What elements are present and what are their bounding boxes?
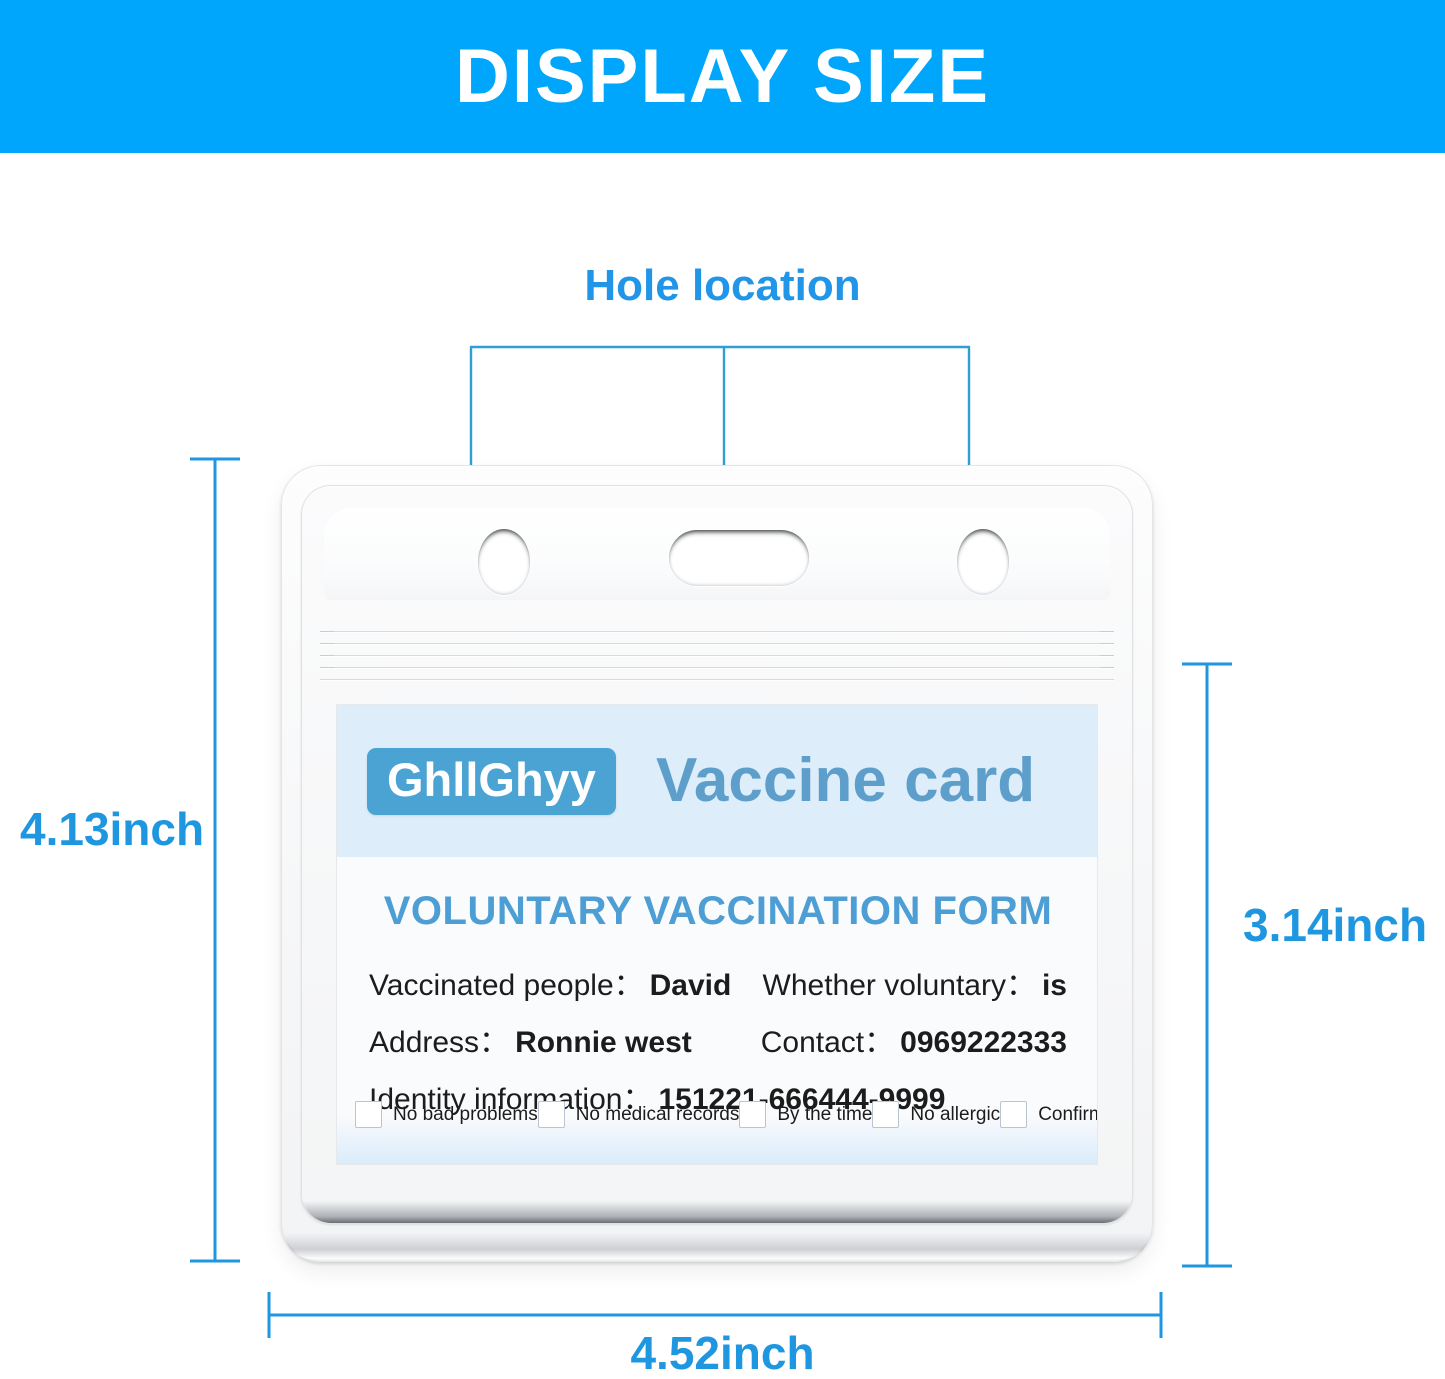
checkbox-label: Confirm the vaccination: [1038, 1105, 1098, 1124]
hole-left-icon: [478, 529, 530, 595]
checkbox-icon[interactable]: [355, 1101, 382, 1128]
field-contact: Contact：0969222333: [761, 1026, 1067, 1059]
dimension-line-overall-height: [186, 455, 244, 1265]
checkbox-label: No allergic: [910, 1105, 1000, 1124]
checkbox-icon[interactable]: [872, 1101, 899, 1128]
checkbox-label: No bad problems: [393, 1105, 538, 1124]
form-title: VOLUNTARY VACCINATION FORM: [369, 891, 1067, 931]
brand-logo: GhllGhyy: [367, 748, 616, 815]
dimension-line-card-height: [1178, 660, 1236, 1270]
field-value: is: [1042, 969, 1067, 1002]
hole-location-leader-lines: [440, 330, 1000, 475]
checkbox-icon[interactable]: [538, 1101, 565, 1128]
vaccine-card: GhllGhyy Vaccine card VOLUNTARY VACCINAT…: [336, 704, 1098, 1165]
page-title: DISPLAY SIZE: [455, 39, 990, 115]
overall-width-label: 4.52inch: [0, 1330, 1445, 1376]
overall-height-label: 4.13inch: [20, 806, 204, 852]
checkbox-label: By the time: [777, 1105, 872, 1124]
form-row: Vaccinated people：David Whether voluntar…: [369, 969, 1067, 1002]
checkbox-icon[interactable]: [1000, 1101, 1027, 1128]
card-height-label: 3.14inch: [1243, 902, 1427, 948]
checkbox-item[interactable]: By the time: [739, 1101, 872, 1128]
vaccine-card-body: VOLUNTARY VACCINATION FORM Vaccinated pe…: [337, 857, 1097, 1164]
field-label: Vaccinated people：: [369, 969, 644, 1002]
checkbox-icon[interactable]: [739, 1101, 766, 1128]
form-row: Address：Ronnie west Contact：0969222333: [369, 1026, 1067, 1059]
hole-right-icon: [957, 529, 1009, 595]
vaccine-card-header: GhllGhyy Vaccine card: [337, 705, 1097, 857]
field-value: Ronnie west: [515, 1026, 692, 1059]
field-label: Contact：: [761, 1026, 894, 1059]
field-label: Whether voluntary：: [763, 969, 1036, 1002]
checkbox-item[interactable]: No bad problems: [355, 1101, 538, 1128]
field-vaccinated-people: Vaccinated people：David: [369, 969, 763, 1002]
hole-location-label: Hole location: [0, 262, 1445, 310]
display-size-banner: DISPLAY SIZE: [0, 0, 1445, 153]
zip-seal-ridges: [320, 629, 1114, 681]
checkbox-item[interactable]: No medical records: [538, 1101, 740, 1128]
field-value: 0969222333: [900, 1026, 1067, 1059]
checkbox-row: No bad problems No medical records By th…: [355, 1101, 1081, 1128]
field-whether-voluntary: Whether voluntary：is: [763, 969, 1067, 1002]
field-label: Address：: [369, 1026, 509, 1059]
field-value: David: [650, 969, 732, 1002]
holder-inner-pocket: GhllGhyy Vaccine card VOLUNTARY VACCINAT…: [301, 485, 1133, 1224]
checkbox-label: No medical records: [576, 1105, 740, 1124]
form-fields: Vaccinated people：David Whether voluntar…: [369, 969, 1067, 1116]
checkbox-item[interactable]: Confirm the vaccination: [1000, 1101, 1098, 1128]
checkbox-item[interactable]: No allergic: [872, 1101, 1000, 1128]
hole-center-slot-icon: [669, 530, 809, 586]
vaccine-card-title: Vaccine card: [656, 750, 1035, 812]
badge-holder: GhllGhyy Vaccine card VOLUNTARY VACCINAT…: [281, 465, 1153, 1262]
field-address: Address：Ronnie west: [369, 1026, 761, 1059]
